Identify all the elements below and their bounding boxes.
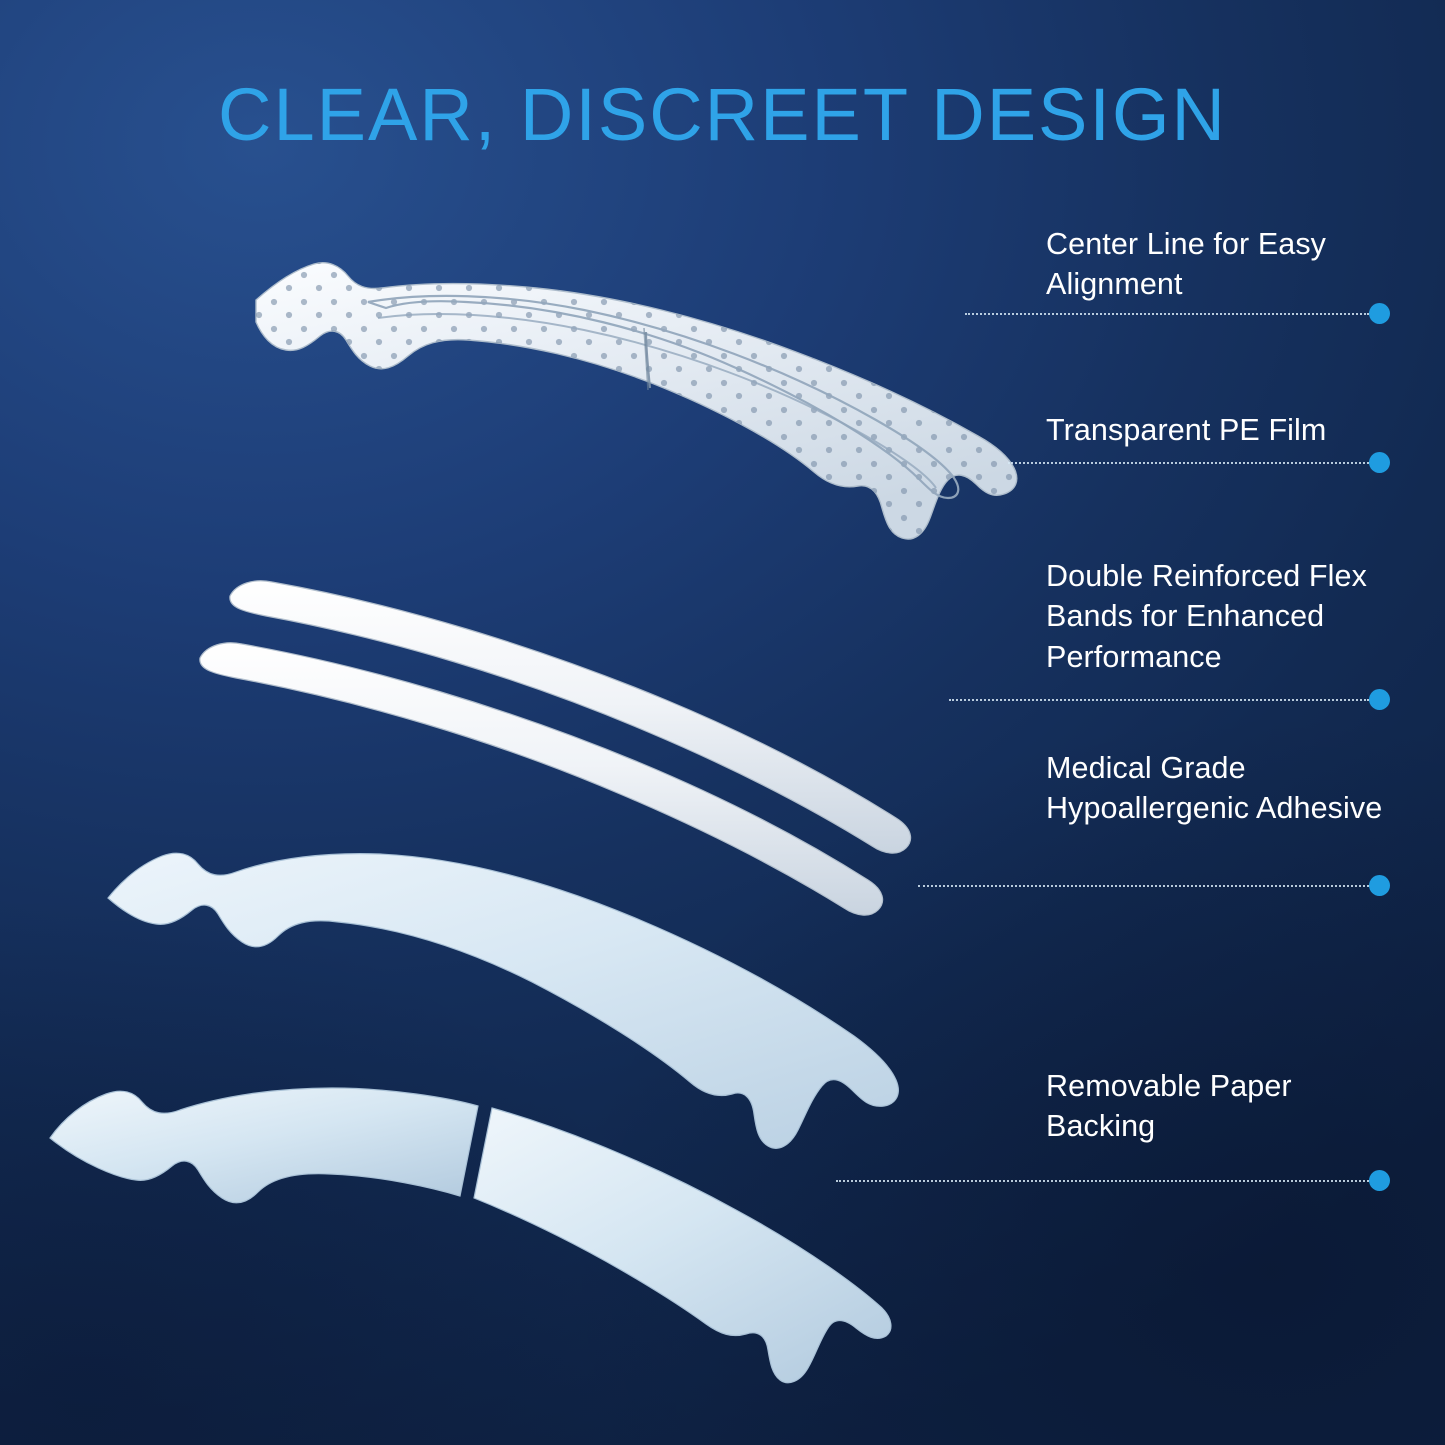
product-diagram-page: CLEAR, DISCREET DESIGN: [0, 0, 1445, 1445]
callout-dot-adhesive[interactable]: [1369, 875, 1390, 896]
leader-line-paper-backing: [836, 1180, 1369, 1182]
page-title: CLEAR, DISCREET DESIGN: [0, 72, 1445, 157]
leader-line-pe-film: [1008, 462, 1369, 464]
callout-label-pe-film: Transparent PE Film: [1046, 410, 1396, 450]
callout-dot-pe-film[interactable]: [1369, 452, 1390, 473]
callout-dot-center-line[interactable]: [1369, 303, 1390, 324]
layer-pe-film: [236, 240, 1056, 580]
callout-label-paper-backing: Removable Paper Backing: [1046, 1066, 1396, 1147]
callout-label-flex-bands: Double Reinforced Flex Bands for Enhance…: [1046, 556, 1421, 677]
callout-label-center-line: Center Line for Easy Alignment: [1046, 224, 1396, 305]
leader-line-center-line: [965, 313, 1369, 315]
callout-label-adhesive: Medical Grade Hypoallergenic Adhesive: [1046, 748, 1396, 829]
callout-dot-paper-backing[interactable]: [1369, 1170, 1390, 1191]
leader-line-flex-bands: [949, 699, 1369, 701]
leader-line-adhesive: [918, 885, 1369, 887]
callout-dot-flex-bands[interactable]: [1369, 689, 1390, 710]
layer-paper-backing: [30, 988, 930, 1328]
